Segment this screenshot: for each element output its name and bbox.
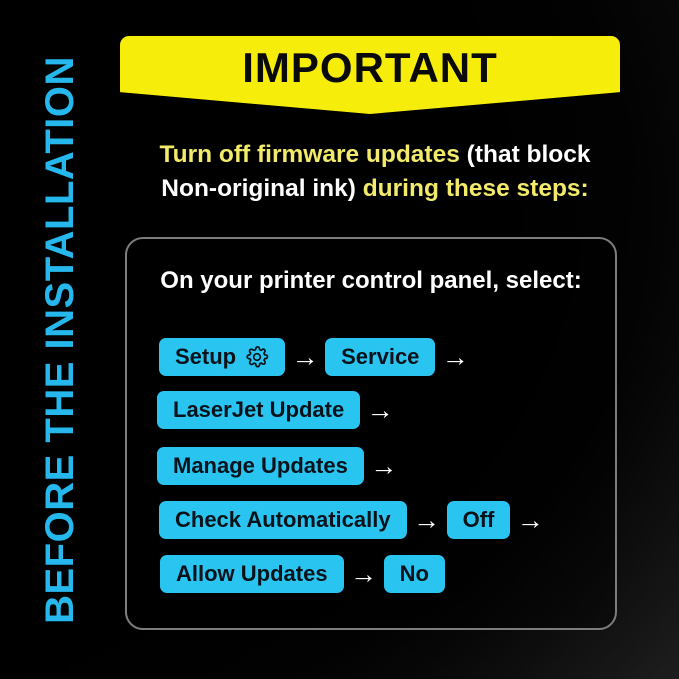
- pill-label: Check Automatically: [175, 507, 391, 533]
- panel-heading: On your printer control panel, select:: [127, 267, 615, 295]
- pill-setup[interactable]: Setup: [159, 338, 285, 376]
- arrow-icon: →: [285, 344, 325, 371]
- arrow-icon: →: [364, 453, 404, 480]
- pill-label: Manage Updates: [173, 453, 348, 479]
- pill-no[interactable]: No: [384, 555, 445, 593]
- arrow-icon: →: [407, 507, 447, 534]
- arrow-icon: →: [510, 507, 550, 534]
- step-row: Allow Updates → No: [160, 554, 445, 594]
- arrow-icon: →: [435, 344, 475, 371]
- subtitle-part-3: during these steps:: [356, 175, 589, 202]
- pill-label: Allow Updates: [176, 561, 328, 587]
- important-banner-label: IMPORTANT: [120, 40, 620, 96]
- pill-label: No: [400, 561, 429, 587]
- pill-label: LaserJet Update: [173, 397, 344, 423]
- subtitle-text: Turn off firmware updates (that block No…: [130, 138, 620, 206]
- side-banner-label: BEFORE THE INSTALLATION: [40, 56, 80, 624]
- pill-allow-updates[interactable]: Allow Updates: [160, 555, 344, 593]
- step-row: Setup → Service →: [159, 337, 475, 377]
- pill-manage-updates[interactable]: Manage Updates: [157, 447, 364, 485]
- arrow-icon: →: [344, 561, 384, 588]
- arrow-icon: →: [360, 397, 400, 424]
- pill-label: Service: [341, 344, 419, 370]
- pill-service[interactable]: Service: [325, 338, 435, 376]
- step-row: Manage Updates →: [157, 446, 404, 486]
- pill-off[interactable]: Off: [447, 501, 511, 539]
- side-banner: BEFORE THE INSTALLATION: [0, 0, 120, 679]
- step-row: Check Automatically → Off →: [159, 500, 550, 540]
- poster-canvas: BEFORE THE INSTALLATION IMPORTANT Turn o…: [0, 0, 679, 679]
- gear-icon: [245, 345, 269, 369]
- subtitle-part-1: Turn off firmware updates: [159, 141, 466, 168]
- pill-label: Off: [463, 507, 495, 533]
- pill-check-automatically[interactable]: Check Automatically: [159, 501, 407, 539]
- step-row: LaserJet Update →: [157, 390, 400, 430]
- pill-laserjet-update[interactable]: LaserJet Update: [157, 391, 360, 429]
- important-banner: IMPORTANT: [120, 36, 620, 114]
- pill-label: Setup: [175, 344, 236, 370]
